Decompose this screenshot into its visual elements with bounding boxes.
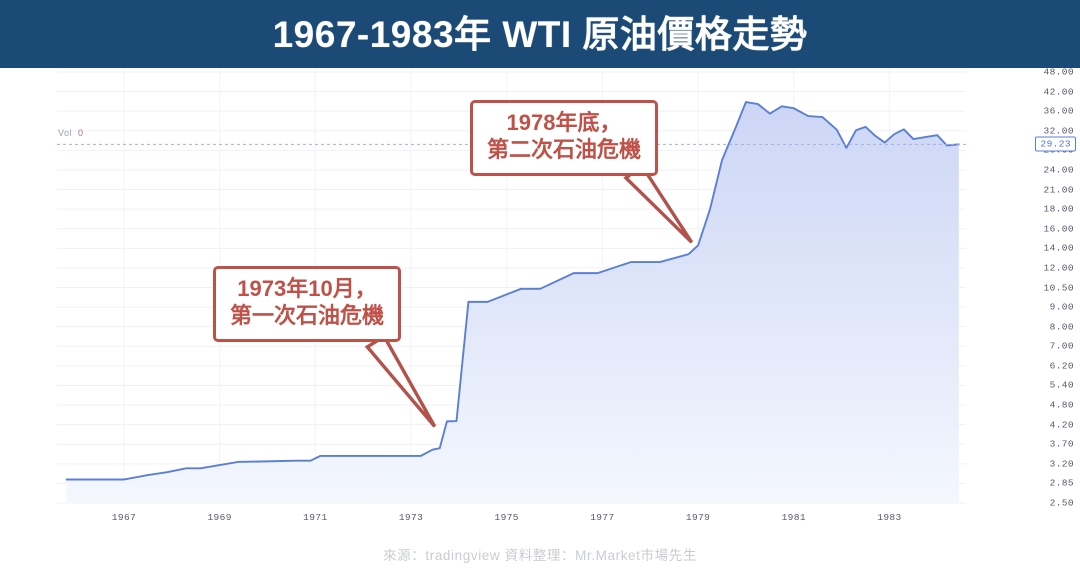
- y-axis-tick-label: 21.00: [1043, 184, 1074, 195]
- y-axis-tick-label: 6.20: [1050, 360, 1074, 371]
- y-axis-tick-label: 14.00: [1043, 243, 1074, 254]
- y-axis-tick-label: 32.00: [1043, 125, 1074, 136]
- y-axis-tick-label: 24.00: [1043, 164, 1074, 175]
- title-band: 1967-1983年 WTI 原油價格走勢: [0, 0, 1080, 68]
- chart-screenshot-root: 1967-1983年 WTI 原油價格走勢 Vol0 48.0042.0036.…: [0, 0, 1080, 574]
- x-axis-tick-label: 1973: [399, 512, 423, 523]
- volume-label-text: Vol: [58, 128, 72, 138]
- x-axis-tick-label: 1983: [877, 512, 901, 523]
- y-axis-tick-label: 8.00: [1050, 321, 1074, 332]
- annotation-line-1: 1978年底，: [487, 110, 641, 137]
- y-axis-tick-label: 9.00: [1050, 302, 1074, 313]
- y-axis-tick-label: 16.00: [1043, 223, 1074, 234]
- y-axis-tick-label: 7.00: [1050, 341, 1074, 352]
- y-axis-tick-label: 4.20: [1050, 419, 1074, 430]
- annotation-line-2: 第一次石油危機: [230, 303, 384, 330]
- current-price-badge[interactable]: 29.23: [1035, 137, 1076, 152]
- y-axis-tick-label: 48.00: [1043, 67, 1074, 78]
- footer: 來源：tradingview 資料整理：Mr.Market市場先生: [0, 536, 1080, 574]
- y-axis-tick-label: 3.70: [1050, 439, 1074, 450]
- annotation-line-2: 第二次石油危機: [487, 137, 641, 164]
- x-axis-tick-label: 1979: [686, 512, 710, 523]
- y-axis-tick-label: 3.20: [1050, 458, 1074, 469]
- y-axis-tick-label: 12.00: [1043, 262, 1074, 273]
- volume-value: 0: [78, 128, 84, 138]
- x-axis-tick-label: 1971: [303, 512, 327, 523]
- volume-indicator-label: Vol0: [58, 128, 84, 138]
- x-axis-tick-label: 1975: [495, 512, 519, 523]
- y-axis-tick-label: 2.85: [1050, 478, 1074, 489]
- annotation-first-oil-crisis: 1973年10月， 第一次石油危機: [213, 266, 401, 342]
- y-axis-tick-label: 5.40: [1050, 380, 1074, 391]
- y-axis[interactable]: 48.0042.0036.0032.0028.0024.0021.0018.00…: [1028, 68, 1080, 536]
- y-axis-tick-label: 36.00: [1043, 106, 1074, 117]
- y-axis-tick-label: 18.00: [1043, 204, 1074, 215]
- annotation-second-oil-crisis: 1978年底， 第二次石油危機: [470, 100, 658, 176]
- x-axis-tick-label: 1981: [782, 512, 806, 523]
- y-axis-tick-label: 10.50: [1043, 282, 1074, 293]
- y-axis-tick-label: 42.00: [1043, 86, 1074, 97]
- y-axis-tick-label: 4.80: [1050, 400, 1074, 411]
- x-axis-tick-label: 1967: [112, 512, 136, 523]
- annotation-line-1: 1973年10月，: [230, 276, 384, 303]
- x-axis-tick-label: 1969: [207, 512, 231, 523]
- x-axis[interactable]: 196719691971197319751977197919811983: [0, 503, 1080, 533]
- page-title: 1967-1983年 WTI 原油價格走勢: [273, 16, 808, 53]
- source-attribution: 來源：tradingview 資料整理：Mr.Market市場先生: [383, 544, 697, 564]
- x-axis-tick-label: 1977: [590, 512, 614, 523]
